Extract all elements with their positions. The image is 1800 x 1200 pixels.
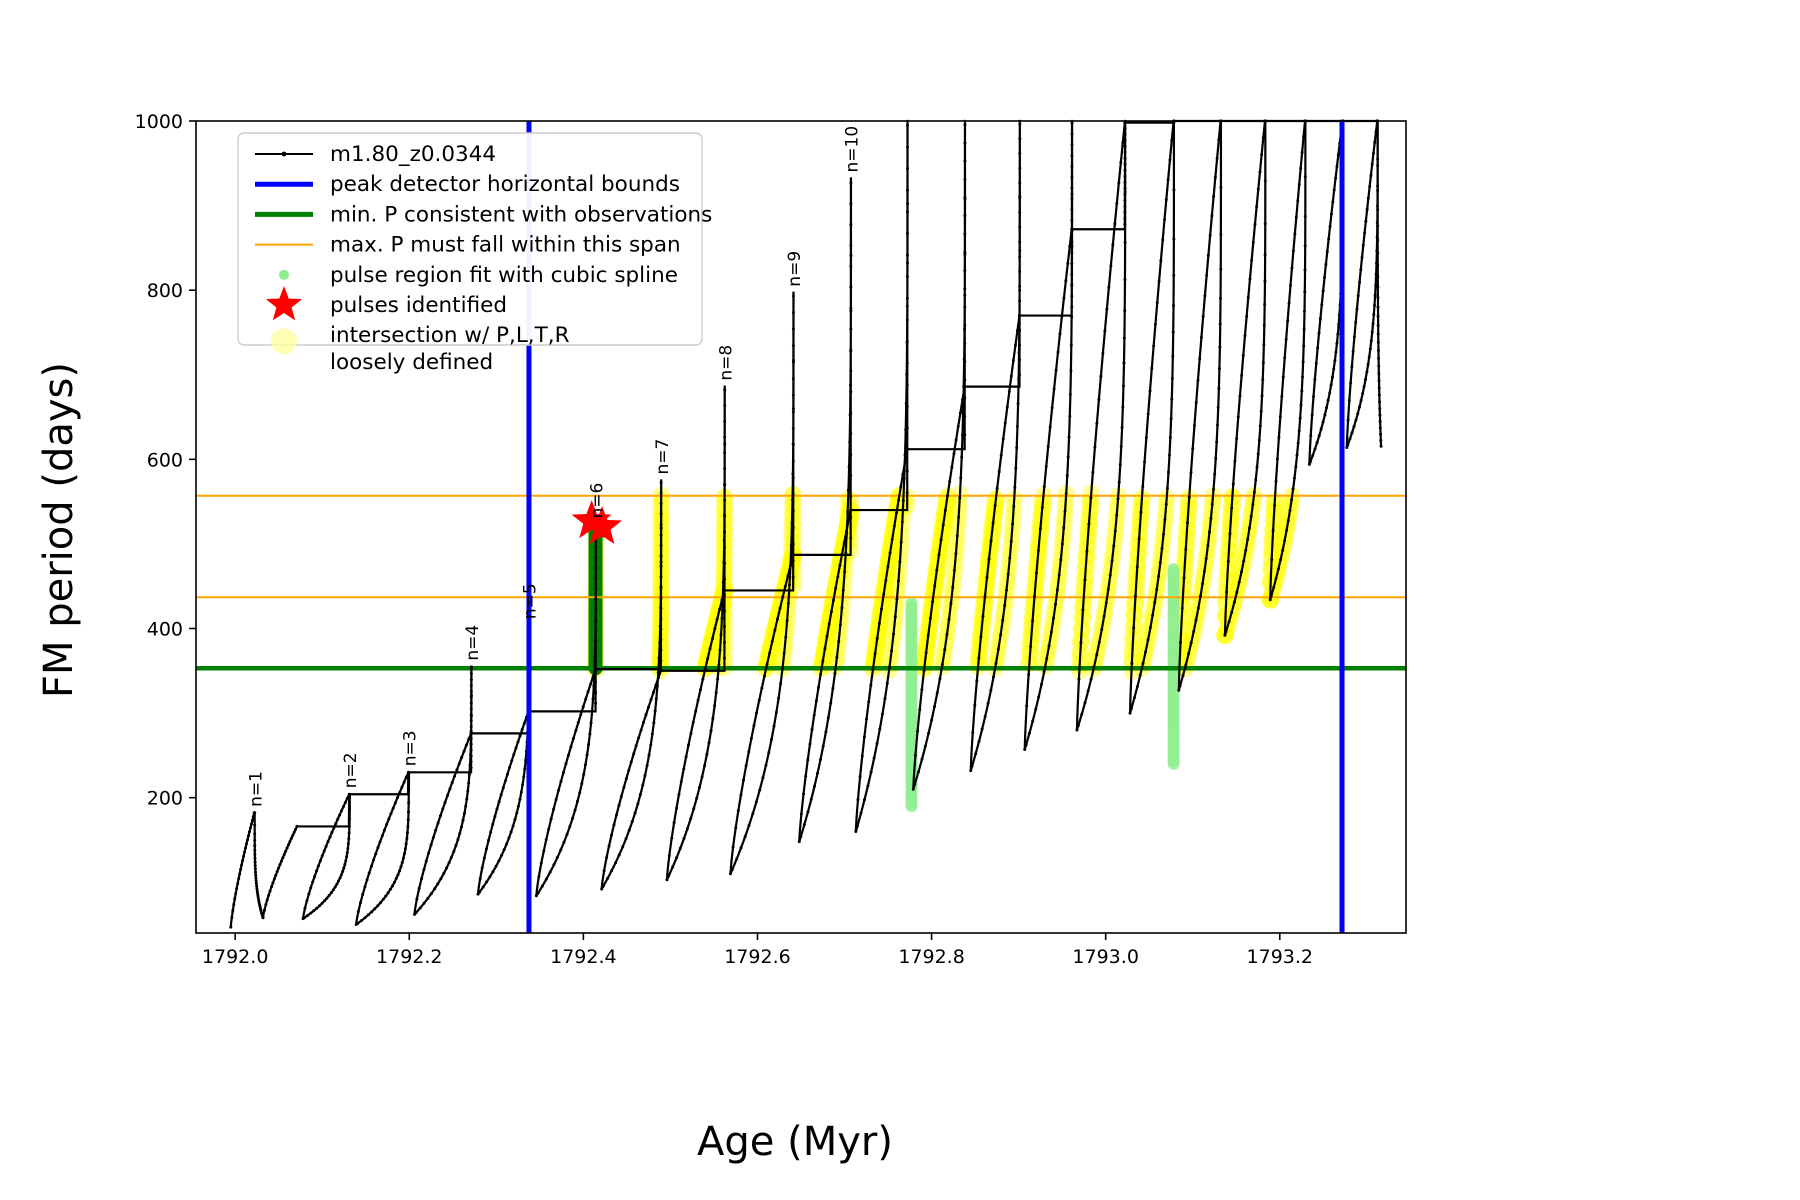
series-point	[1252, 241, 1255, 244]
series-point	[1367, 363, 1370, 366]
series-point	[649, 743, 652, 746]
series-point	[1294, 465, 1297, 468]
series-point	[1238, 581, 1241, 584]
series-point	[1213, 473, 1216, 476]
series-point	[405, 776, 408, 779]
series-point	[1233, 459, 1236, 462]
series-point	[1238, 394, 1241, 397]
series-point	[716, 678, 719, 681]
series-point	[562, 771, 565, 774]
series-point	[1378, 379, 1381, 382]
series-point	[1055, 369, 1058, 372]
series-point	[245, 842, 248, 845]
series-point	[1376, 286, 1379, 289]
series-point	[963, 287, 966, 290]
series-point	[806, 810, 809, 813]
series-point	[815, 699, 818, 702]
series-point	[659, 638, 662, 641]
series-point	[594, 691, 597, 694]
legend-label[interactable]: max. P must fall within this span	[330, 233, 681, 258]
series-point	[867, 700, 870, 703]
legend-label[interactable]: pulses identified	[330, 293, 507, 318]
series-point	[427, 852, 430, 855]
series-point	[545, 878, 548, 881]
series-point	[1320, 427, 1323, 430]
series-point	[788, 583, 791, 586]
series-point	[1195, 618, 1198, 621]
series-point	[1048, 644, 1051, 647]
series-point	[897, 498, 900, 501]
series-point	[1292, 488, 1295, 491]
series-point	[1285, 338, 1288, 341]
series-point	[1139, 511, 1142, 514]
series-point	[437, 821, 440, 824]
series-point	[1167, 178, 1170, 181]
series-point	[1089, 496, 1092, 499]
series-point	[723, 451, 726, 454]
series-point	[1033, 595, 1036, 598]
series-point	[1079, 641, 1082, 644]
series-point	[1064, 279, 1067, 282]
series-point	[1122, 384, 1125, 387]
series-point	[1182, 674, 1185, 677]
series-point	[1095, 422, 1098, 425]
series-point	[883, 697, 886, 700]
series-point	[1123, 169, 1126, 172]
series-point	[1187, 652, 1190, 655]
series-point	[592, 684, 595, 687]
series-point	[1376, 239, 1379, 242]
series-point	[1290, 498, 1293, 501]
series-point	[1163, 218, 1166, 221]
series-point	[1193, 424, 1196, 427]
series-point	[1087, 523, 1090, 526]
series-point	[844, 551, 847, 554]
series-point	[1286, 319, 1289, 322]
series-point	[1172, 304, 1175, 307]
series-point	[1121, 426, 1124, 429]
series-point	[325, 897, 328, 900]
series-point	[594, 650, 597, 653]
series-point	[1376, 264, 1379, 267]
series-point	[682, 837, 685, 840]
series-point	[873, 757, 876, 760]
series-point	[705, 753, 708, 756]
series-point	[288, 840, 291, 843]
series-point	[1376, 224, 1379, 227]
series-point	[273, 878, 276, 881]
series-point	[587, 690, 590, 693]
series-point	[1091, 471, 1094, 474]
series-point	[1012, 505, 1015, 508]
series-point	[1277, 568, 1280, 571]
series-point	[1018, 137, 1021, 140]
series-point	[363, 885, 366, 888]
series-point	[723, 483, 726, 486]
series-point	[882, 593, 885, 596]
series-point	[1366, 208, 1369, 211]
series-point	[659, 617, 662, 620]
series-point	[699, 688, 702, 691]
series-point	[942, 523, 945, 526]
series-point	[337, 880, 340, 883]
series-point	[732, 846, 735, 849]
series-point	[1219, 233, 1222, 236]
series-point	[1171, 377, 1174, 380]
series-point	[1123, 187, 1126, 190]
series-point	[1287, 519, 1290, 522]
series-point	[492, 870, 495, 873]
series-point	[238, 872, 241, 875]
series-point	[309, 886, 312, 889]
series-point	[328, 835, 331, 838]
spline-point	[1168, 563, 1180, 575]
series-point	[1376, 208, 1379, 211]
series-point	[1322, 289, 1325, 292]
series-point	[1298, 429, 1301, 432]
series-point	[1161, 239, 1164, 242]
series-point	[644, 774, 647, 777]
series-point	[622, 786, 625, 789]
series-point	[658, 657, 661, 660]
series-point	[955, 438, 958, 441]
series-point	[1227, 620, 1230, 623]
series-point	[924, 745, 927, 748]
series-point	[1071, 132, 1074, 135]
series-point	[557, 789, 560, 792]
series-point	[396, 873, 399, 876]
series-point	[1350, 365, 1353, 368]
series-point	[1311, 454, 1314, 457]
series-point	[503, 848, 506, 851]
series-point	[277, 867, 280, 870]
series-point	[1371, 163, 1374, 166]
series-point	[974, 752, 977, 755]
series-point	[863, 798, 866, 801]
series-point	[823, 647, 826, 650]
series-point	[906, 405, 909, 408]
series-point	[488, 875, 491, 878]
series-point	[723, 436, 726, 439]
series-point	[931, 600, 934, 603]
series-point	[1157, 575, 1160, 578]
series-point	[1242, 560, 1245, 563]
series-point	[1103, 330, 1106, 333]
series-point	[1123, 309, 1126, 312]
series-point	[906, 448, 909, 451]
series-point	[692, 807, 695, 810]
series-point	[312, 909, 315, 912]
legend-label[interactable]: min. P consistent with observations	[330, 202, 712, 227]
series-point	[283, 853, 286, 856]
series-point	[660, 560, 663, 563]
series-point	[1378, 407, 1381, 410]
series-point	[1285, 529, 1288, 532]
series-point	[348, 818, 351, 821]
series-point	[321, 902, 324, 905]
series-point	[761, 776, 764, 779]
series-point	[340, 809, 343, 812]
series-point	[849, 350, 852, 353]
series-point	[420, 877, 423, 880]
chart-legend[interactable]: m1.80_z0.0344peak detector horizontal bo…	[238, 133, 712, 375]
series-point	[831, 687, 834, 690]
series-point	[1377, 324, 1380, 327]
series-point	[347, 837, 350, 840]
series-point	[363, 916, 366, 919]
series-point	[632, 752, 635, 755]
series-point	[747, 750, 750, 753]
series-point	[1257, 188, 1260, 191]
series-point	[1297, 442, 1300, 445]
series-point	[1188, 496, 1191, 499]
series-point	[1070, 187, 1073, 190]
series-point	[723, 499, 726, 502]
series-point	[892, 633, 895, 636]
series-point	[502, 786, 505, 789]
series-point	[507, 836, 510, 839]
series-point	[521, 728, 524, 731]
series-point	[1301, 375, 1304, 378]
series-point	[315, 907, 318, 910]
series-point	[1145, 436, 1148, 439]
series-point	[1090, 678, 1093, 681]
x-tick-label: 1793.0	[1072, 946, 1138, 968]
series-point	[493, 815, 496, 818]
series-point	[406, 825, 409, 828]
series-point	[1181, 607, 1184, 610]
series-point	[342, 867, 345, 870]
series-point	[594, 620, 597, 623]
series-point	[668, 854, 671, 857]
series-point	[1136, 565, 1139, 568]
series-point	[237, 877, 240, 880]
series-point	[963, 269, 966, 272]
series-point	[1376, 252, 1379, 255]
series-point	[849, 432, 852, 435]
series-point	[519, 734, 522, 737]
series-point	[1211, 503, 1214, 506]
series-point	[779, 607, 782, 610]
series-point	[723, 514, 726, 517]
series-point	[767, 751, 770, 754]
series-point	[1007, 573, 1010, 576]
series-point	[1203, 294, 1206, 297]
series-point	[1361, 392, 1364, 395]
series-point	[847, 519, 850, 522]
series-point	[849, 265, 852, 268]
series-point	[1318, 332, 1321, 335]
series-point	[504, 779, 507, 782]
legend-label[interactable]: pulse region fit with cubic spline	[330, 263, 678, 288]
series-point	[1124, 157, 1127, 160]
series-point	[963, 178, 966, 181]
series-point	[1134, 595, 1137, 598]
series-point	[405, 837, 408, 840]
series-point	[343, 863, 346, 866]
series-point	[1262, 361, 1265, 364]
series-point	[1068, 415, 1071, 418]
legend-label[interactable]: intersection w/ P,L,T,R	[330, 323, 570, 348]
series-point	[1018, 289, 1021, 292]
series-point	[425, 860, 428, 863]
series-point	[1003, 604, 1006, 607]
series-point	[625, 837, 628, 840]
series-point	[451, 781, 454, 784]
series-point	[464, 805, 467, 808]
series-point	[842, 589, 845, 592]
series-point	[284, 850, 287, 853]
series-point	[1056, 588, 1059, 591]
series-point	[1123, 337, 1126, 340]
series-point	[665, 878, 668, 881]
series-point	[280, 860, 283, 863]
series-point	[293, 831, 296, 834]
series-point	[370, 865, 373, 868]
legend-label[interactable]: m1.80_z0.0344	[330, 142, 496, 167]
series-point	[1070, 305, 1073, 308]
series-point	[552, 863, 555, 866]
series-point	[240, 863, 243, 866]
series-point	[1378, 400, 1381, 403]
series-point	[1219, 322, 1222, 325]
series-point	[1144, 650, 1147, 653]
series-point	[721, 598, 724, 601]
series-point	[689, 817, 692, 820]
series-point	[748, 824, 751, 827]
series-point	[1233, 601, 1236, 604]
series-point	[1365, 371, 1368, 374]
series-point	[305, 899, 308, 902]
series-point	[404, 847, 407, 850]
series-point	[745, 764, 748, 767]
series-point	[969, 769, 972, 772]
series-point	[792, 359, 795, 362]
series-point	[1283, 539, 1286, 542]
series-point	[944, 509, 947, 512]
series-point	[1070, 283, 1073, 286]
series-point	[341, 870, 344, 873]
series-point	[376, 846, 379, 849]
series-point	[1325, 406, 1328, 409]
series-point	[287, 843, 290, 846]
series-point	[906, 261, 909, 264]
series-point	[1172, 188, 1175, 191]
series-point	[1281, 549, 1284, 552]
series-point	[347, 842, 350, 845]
series-point	[1191, 447, 1194, 450]
series-point	[654, 684, 657, 687]
series-point	[792, 407, 795, 410]
series-point	[752, 724, 755, 727]
series-point	[1359, 268, 1362, 271]
series-point	[973, 704, 976, 707]
series-point	[1377, 365, 1380, 368]
series-point	[1212, 488, 1215, 491]
series-point	[723, 388, 726, 391]
series-point	[1070, 273, 1073, 276]
series-point	[1066, 474, 1069, 477]
series-point	[461, 819, 464, 822]
series-point	[251, 819, 254, 822]
series-point	[328, 894, 331, 897]
series-point	[1085, 550, 1088, 553]
series-point	[952, 452, 955, 455]
series-point	[719, 649, 722, 652]
legend-label-line2[interactable]: loosely defined	[330, 350, 493, 375]
series-point	[559, 848, 562, 851]
series-point	[1282, 375, 1285, 378]
series-point	[906, 383, 909, 386]
series-point	[843, 541, 846, 544]
series-point	[1273, 504, 1276, 507]
series-point	[379, 901, 382, 904]
series-point	[574, 808, 577, 811]
series-point	[981, 728, 984, 731]
series-point	[1123, 199, 1126, 202]
series-point	[470, 694, 473, 697]
series-point	[444, 801, 447, 804]
series-point	[264, 903, 267, 906]
series-point	[393, 881, 396, 884]
series-point	[938, 677, 941, 680]
series-point	[1240, 374, 1243, 377]
series-point	[723, 404, 726, 407]
series-point	[1335, 342, 1338, 345]
series-point	[918, 708, 921, 711]
series-point	[489, 831, 492, 834]
series-point	[594, 587, 597, 590]
series-point	[1115, 202, 1118, 205]
series-point	[477, 893, 480, 896]
series-point	[843, 570, 846, 573]
legend-label[interactable]: peak detector horizontal bounds	[330, 172, 680, 197]
series-point	[1027, 673, 1030, 676]
series-point	[1084, 701, 1087, 704]
series-point	[286, 846, 289, 849]
series-point	[413, 913, 416, 916]
series-point	[389, 812, 392, 815]
series-point	[1105, 308, 1108, 311]
series-point	[594, 546, 597, 549]
series-point	[1168, 454, 1171, 457]
series-point	[1247, 296, 1250, 299]
series-point	[1018, 226, 1021, 229]
series-point	[254, 861, 257, 864]
series-point	[1323, 276, 1326, 279]
series-point	[241, 859, 244, 862]
series-point	[1290, 266, 1293, 269]
series-point	[495, 865, 498, 868]
series-point	[1372, 152, 1375, 155]
series-point	[830, 610, 833, 613]
series-point	[1361, 256, 1364, 259]
series-point	[458, 762, 461, 765]
series-point	[231, 909, 234, 912]
series-point	[1203, 570, 1206, 573]
series-point	[318, 904, 321, 907]
series-point	[958, 497, 961, 500]
series-point	[1138, 537, 1141, 540]
series-point	[1244, 549, 1247, 552]
series-point	[739, 793, 742, 796]
series-point	[1070, 295, 1073, 298]
series-point	[1375, 130, 1378, 133]
series-point	[1207, 254, 1210, 257]
series-point	[1064, 510, 1067, 513]
series-point	[1316, 441, 1319, 444]
series-point	[1087, 690, 1090, 693]
